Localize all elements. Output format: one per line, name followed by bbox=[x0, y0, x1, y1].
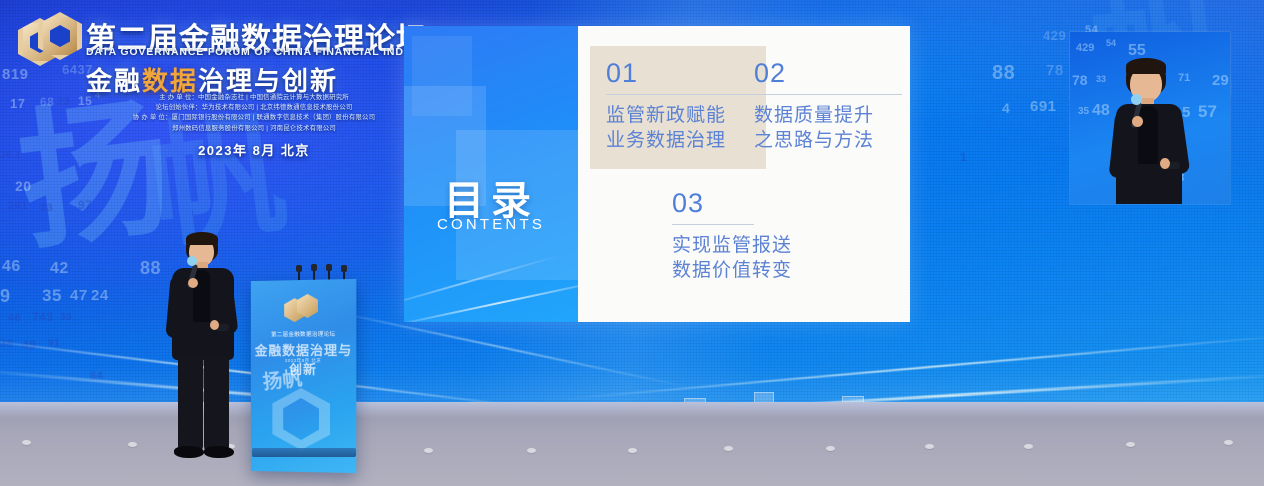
podium-lectern: 第二届金融数据治理论坛 金融数据治理与创新 2023年8月 北京 扬帆 bbox=[251, 279, 356, 473]
podium-logo bbox=[284, 294, 322, 329]
theme-part-1: 金融 bbox=[86, 66, 142, 96]
toc-divider bbox=[606, 94, 754, 95]
bg-number: 64 bbox=[90, 370, 103, 382]
organizer-line: 论坛创始伙伴：华为技术有限公司 | 北京纬德数通信息技术股份公司 bbox=[96, 103, 412, 113]
organizer-line: 主 办 单 位：中国金融杂志社 | 中国信通院云计算与大数据研究所 bbox=[96, 93, 412, 103]
bg-number: 20 bbox=[15, 178, 32, 194]
toc-line-1: 监管新政赋能 bbox=[606, 103, 754, 128]
speaker-figure-stage bbox=[160, 232, 250, 466]
forum-key-visual: 第二届金融数据治理论坛 DATA GOVERNANCE FORUM OF CHI… bbox=[0, 0, 420, 175]
toc-divider bbox=[672, 224, 754, 225]
bg-number: 1 bbox=[960, 150, 967, 164]
theme-part-2: 治理与创新 bbox=[198, 66, 338, 96]
toc-line-2: 业务数据治理 bbox=[606, 128, 754, 153]
bg-number: 46 bbox=[8, 312, 21, 324]
organizer-line: 郑州数码信息服务股份有限公司 | 河南昆仑技术有限公司 bbox=[96, 124, 412, 134]
bg-number: 46 bbox=[2, 258, 21, 276]
bg-number: 33 bbox=[60, 312, 72, 323]
forum-title-en: DATA GOVERNANCE FORUM OF CHINA FINANCIAL… bbox=[86, 46, 443, 58]
toc-line-1: 实现监管报送 bbox=[672, 233, 832, 258]
organizer-line: 协 办 单 位：厦门国际银行股份有限公司 | 联通数字信息技术（集团）股份有限公… bbox=[96, 113, 412, 123]
bg-number: 33 bbox=[40, 202, 53, 214]
bg-number: 691 bbox=[1030, 98, 1057, 115]
toc-item-01[interactable]: 01 监管新政赋能 业务数据治理 bbox=[590, 46, 766, 169]
bg-number: 88 bbox=[992, 62, 1015, 85]
podium-calligraphy: 扬帆 bbox=[261, 362, 303, 395]
bg-number: 42 bbox=[50, 260, 69, 278]
toc-number-02: 02 bbox=[754, 60, 902, 87]
toc-item-02[interactable]: 02 数据质量提升 之思路与方法 bbox=[750, 46, 910, 169]
bg-number: 88 bbox=[140, 258, 161, 279]
toc-divider bbox=[754, 94, 902, 95]
bg-number: 743 bbox=[32, 310, 54, 324]
podium-base bbox=[252, 448, 356, 457]
slide-section-title-en: CONTENTS bbox=[404, 216, 578, 233]
organizer-list: 主 办 单 位：中国金融杂志社 | 中国信通院云计算与大数据研究所 论坛创始伙伴… bbox=[96, 93, 412, 134]
bg-number: 35 bbox=[42, 286, 62, 306]
bg-number: 49 bbox=[22, 338, 36, 352]
bg-number: 97 bbox=[78, 198, 92, 212]
toc-item-03[interactable]: 03 实现监管报送 数据价值转变 bbox=[668, 176, 844, 299]
bg-number: 91 bbox=[48, 338, 60, 349]
bg-number: 9 bbox=[0, 286, 11, 307]
toc-line-2: 之思路与方法 bbox=[754, 128, 902, 153]
toc-line-1: 数据质量提升 bbox=[754, 103, 902, 128]
bg-number: 429 bbox=[1043, 28, 1066, 43]
bg-number: 78 bbox=[1046, 62, 1064, 79]
forum-date-location: 2023年 8月 北京 bbox=[96, 140, 412, 159]
podium-date: 2023年8月 北京 bbox=[251, 358, 356, 364]
bg-number: 38 bbox=[0, 338, 13, 350]
speaker-figure-pip bbox=[1104, 58, 1200, 204]
conference-stage-photo: 扬 帆 帆 819 6437 17 68 23 15 4 20 261 33 9… bbox=[0, 0, 1264, 486]
bg-number: 261 bbox=[8, 200, 28, 212]
projected-slide: 目录 CONTENTS 01 监管新政赋能 业务数据治理 02 数据质量提升 之… bbox=[404, 26, 910, 322]
toc-line-2: 数据价值转变 bbox=[672, 258, 832, 283]
slide-content-panel: 01 监管新政赋能 业务数据治理 02 数据质量提升 之思路与方法 03 实现监… bbox=[578, 26, 910, 322]
bg-number: 24 bbox=[91, 287, 109, 304]
bg-number: 47 bbox=[70, 287, 88, 304]
speaker-camera-feed: 429 54 55 78 33 71 29 35 48 57 5 973 bbox=[1070, 32, 1230, 204]
bg-number: 4 bbox=[1002, 100, 1010, 116]
slide-left-panel: 目录 CONTENTS bbox=[404, 26, 578, 322]
theme-highlight: 数据 bbox=[142, 66, 198, 96]
toc-number-01: 01 bbox=[606, 60, 754, 87]
podium-title: 第二届金融数据治理论坛 bbox=[251, 329, 356, 338]
forum-logo bbox=[18, 12, 80, 68]
toc-number-03: 03 bbox=[672, 190, 832, 217]
